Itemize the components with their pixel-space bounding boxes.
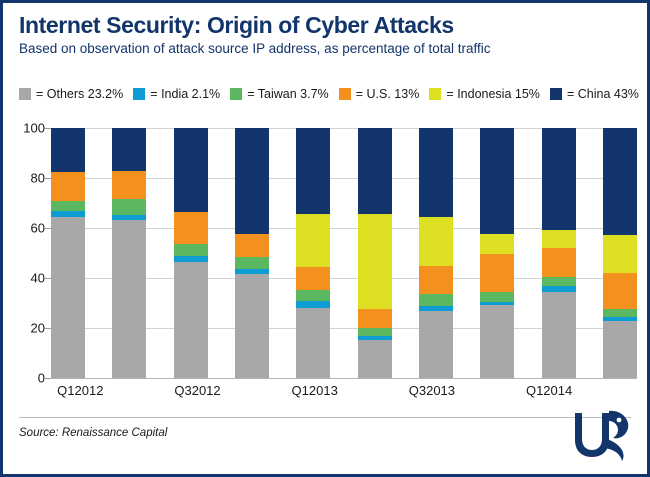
bar-segment-china xyxy=(296,128,330,214)
y-tickmark-0 xyxy=(44,378,51,379)
bar-segment-others xyxy=(235,274,269,378)
y-axis: 020406080100 xyxy=(3,115,45,379)
chart-page: Internet Security: Origin of Cyber Attac… xyxy=(0,0,650,477)
bar-segment-china xyxy=(542,128,576,230)
bar-segment-indonesia xyxy=(419,217,453,266)
bar-segment-others xyxy=(296,308,330,378)
bar-segment-china xyxy=(480,128,514,234)
bar-segment-us xyxy=(296,267,330,290)
bar-q12014[interactable] xyxy=(542,128,576,378)
bar-segment-others xyxy=(480,305,514,378)
legend-item-indonesia[interactable]: = Indonesia 15% xyxy=(429,87,539,101)
y-tick-label-60: 60 xyxy=(3,221,45,236)
bar-segment-indonesia xyxy=(480,234,514,254)
legend-swatch-india xyxy=(133,88,145,100)
bar-segment-taiwan xyxy=(51,201,85,211)
bar-q32012[interactable] xyxy=(174,128,208,378)
bar-segment-others xyxy=(51,217,85,378)
bar-q22013[interactable] xyxy=(358,128,392,378)
bar-segment-us xyxy=(51,172,85,201)
plot-wrapper: 020406080100 Q12012Q32012Q12013Q32013Q12… xyxy=(3,115,647,405)
bar-segment-us xyxy=(112,171,146,199)
bar-segment-china xyxy=(112,128,146,171)
legend-item-others[interactable]: = Others 23.2% xyxy=(19,87,123,101)
legend-label-indonesia: = Indonesia 15% xyxy=(446,87,539,101)
chart-legend: = Others 23.2%= India 2.1%= Taiwan 3.7%=… xyxy=(19,87,639,101)
bar-q42012[interactable] xyxy=(235,128,269,378)
bar-segment-others xyxy=(358,340,392,378)
bar-segment-china xyxy=(419,128,453,217)
legend-item-india[interactable]: = India 2.1% xyxy=(133,87,220,101)
bar-segment-us xyxy=(603,273,637,309)
bar-q22014[interactable] xyxy=(603,128,637,378)
header: Internet Security: Origin of Cyber Attac… xyxy=(3,3,647,57)
legend-item-taiwan[interactable]: = Taiwan 3.7% xyxy=(230,87,328,101)
y-tickmark-40 xyxy=(44,278,51,279)
gridline-0 xyxy=(51,378,637,379)
bar-segment-china xyxy=(235,128,269,234)
bar-segment-taiwan xyxy=(419,294,453,306)
y-tick-label-0: 0 xyxy=(3,371,45,386)
bar-segment-us xyxy=(419,266,453,294)
x-tick-label-q32012: Q32012 xyxy=(174,383,220,398)
bar-segment-china xyxy=(358,128,392,214)
bar-segment-taiwan xyxy=(480,292,514,302)
bar-group xyxy=(51,128,637,378)
y-tickmark-60 xyxy=(44,228,51,229)
bar-segment-taiwan xyxy=(112,199,146,215)
bar-segment-taiwan xyxy=(358,328,392,336)
bar-segment-us xyxy=(480,254,514,292)
y-tickmark-20 xyxy=(44,328,51,329)
legend-swatch-taiwan xyxy=(230,88,242,100)
bar-segment-taiwan xyxy=(542,277,576,286)
bar-segment-others xyxy=(419,311,453,378)
legend-swatch-us xyxy=(339,88,351,100)
bar-segment-taiwan xyxy=(174,244,208,256)
bar-segment-us xyxy=(358,309,392,328)
legend-swatch-others xyxy=(19,88,31,100)
bar-segment-others xyxy=(542,292,576,378)
y-tick-label-100: 100 xyxy=(3,121,45,136)
bar-segment-china xyxy=(51,128,85,172)
x-tick-label-q12012: Q12012 xyxy=(57,383,103,398)
x-tick-label-q32013: Q32013 xyxy=(409,383,455,398)
bar-segment-us xyxy=(542,248,576,277)
bar-segment-indonesia xyxy=(603,235,637,273)
bar-segment-china xyxy=(174,128,208,212)
y-tickmark-100 xyxy=(44,128,51,129)
y-tick-label-20: 20 xyxy=(3,321,45,336)
bar-segment-taiwan xyxy=(603,309,637,317)
y-tick-label-40: 40 xyxy=(3,271,45,286)
bar-segment-indonesia xyxy=(296,214,330,267)
bar-segment-others xyxy=(603,321,637,378)
x-axis: Q12012Q32012Q12013Q32013Q12014 xyxy=(51,383,637,405)
plot-area xyxy=(51,128,637,378)
y-tickmark-80 xyxy=(44,178,51,179)
bar-segment-china xyxy=(603,128,637,235)
bar-q32013[interactable] xyxy=(419,128,453,378)
legend-swatch-china xyxy=(550,88,562,100)
bar-segment-indonesia xyxy=(358,214,392,309)
legend-swatch-indonesia xyxy=(429,88,441,100)
legend-label-china: = China 43% xyxy=(567,87,639,101)
bar-q42013[interactable] xyxy=(480,128,514,378)
renaissance-capital-logo xyxy=(569,409,631,463)
y-tick-label-80: 80 xyxy=(3,171,45,186)
x-tick-label-q12014: Q12014 xyxy=(526,383,572,398)
legend-label-us: = U.S. 13% xyxy=(356,87,420,101)
bar-q22012[interactable] xyxy=(112,128,146,378)
page-title: Internet Security: Origin of Cyber Attac… xyxy=(19,13,631,37)
bar-segment-taiwan xyxy=(235,257,269,269)
page-subtitle: Based on observation of attack source IP… xyxy=(19,42,631,57)
bar-q12012[interactable] xyxy=(51,128,85,378)
legend-item-china[interactable]: = China 43% xyxy=(550,87,639,101)
legend-item-us[interactable]: = U.S. 13% xyxy=(339,87,420,101)
bar-segment-us xyxy=(235,234,269,257)
bar-q12013[interactable] xyxy=(296,128,330,378)
legend-label-others: = Others 23.2% xyxy=(36,87,123,101)
source-note: Source: Renaissance Capital xyxy=(19,427,167,439)
bar-segment-india xyxy=(296,301,330,308)
x-tick-label-q12013: Q12013 xyxy=(292,383,338,398)
bar-segment-others xyxy=(174,262,208,378)
legend-label-india: = India 2.1% xyxy=(150,87,220,101)
footer-divider xyxy=(19,417,631,418)
legend-label-taiwan: = Taiwan 3.7% xyxy=(247,87,328,101)
bar-segment-taiwan xyxy=(296,290,330,301)
bar-segment-us xyxy=(174,212,208,244)
bar-segment-others xyxy=(112,220,146,378)
bar-segment-indonesia xyxy=(542,230,576,248)
